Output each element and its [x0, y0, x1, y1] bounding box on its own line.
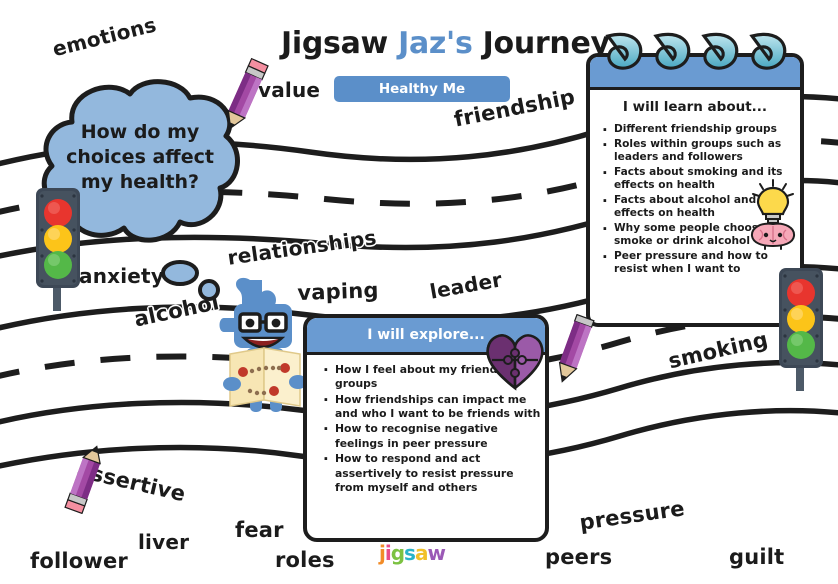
page-title: Jigsaw Jaz's Journey [281, 26, 610, 61]
title-part-1: Jigsaw [281, 26, 398, 61]
traffic-light-icon [775, 266, 827, 391]
keyword-roles: roles [275, 548, 335, 572]
list-item: How to recognise negative feelings in pe… [307, 422, 545, 451]
keyword-follower: follower [30, 549, 128, 573]
pencil-icon [52, 432, 118, 514]
list-item: Roles within groups such as leaders and … [590, 138, 800, 165]
poster-canvas: Jigsaw Jaz's Journey Healthy Me How do m… [0, 0, 838, 584]
explore-panel-heading: I will explore... [367, 327, 485, 343]
keyword-fear: fear [235, 518, 284, 542]
spiral-binding-icon [596, 28, 796, 74]
list-item: How to respond and act assertively to re… [307, 452, 545, 495]
traffic-light-icon [32, 186, 84, 311]
keyword-peers: peers [545, 545, 612, 569]
list-item: How friendships can impact me and who I … [307, 393, 545, 422]
list-item: Different friendship groups [590, 123, 800, 137]
keyword-liver: liver [138, 530, 189, 554]
lightbulb-brain-icon [745, 178, 803, 250]
keyword-anxiety: anxiety [79, 264, 164, 288]
pencil-icon [216, 54, 278, 138]
list-item: Peer pressure and how to resist when I w… [590, 250, 800, 277]
title-accent: Jaz's [398, 26, 472, 61]
puzzle-name-label: Healthy Me [379, 81, 465, 97]
pencil-icon [541, 314, 607, 396]
learn-panel-heading: I will learn about... [590, 99, 800, 115]
puzzle-name-badge: Healthy Me [334, 76, 510, 102]
brain-icon [752, 224, 794, 249]
keyword-guilt: guilt [729, 545, 784, 569]
jigsaw-logo: jigsaw [379, 541, 451, 571]
question-text: How do my choices affect my health? [52, 120, 228, 195]
heart-puzzle-icon [482, 326, 548, 392]
